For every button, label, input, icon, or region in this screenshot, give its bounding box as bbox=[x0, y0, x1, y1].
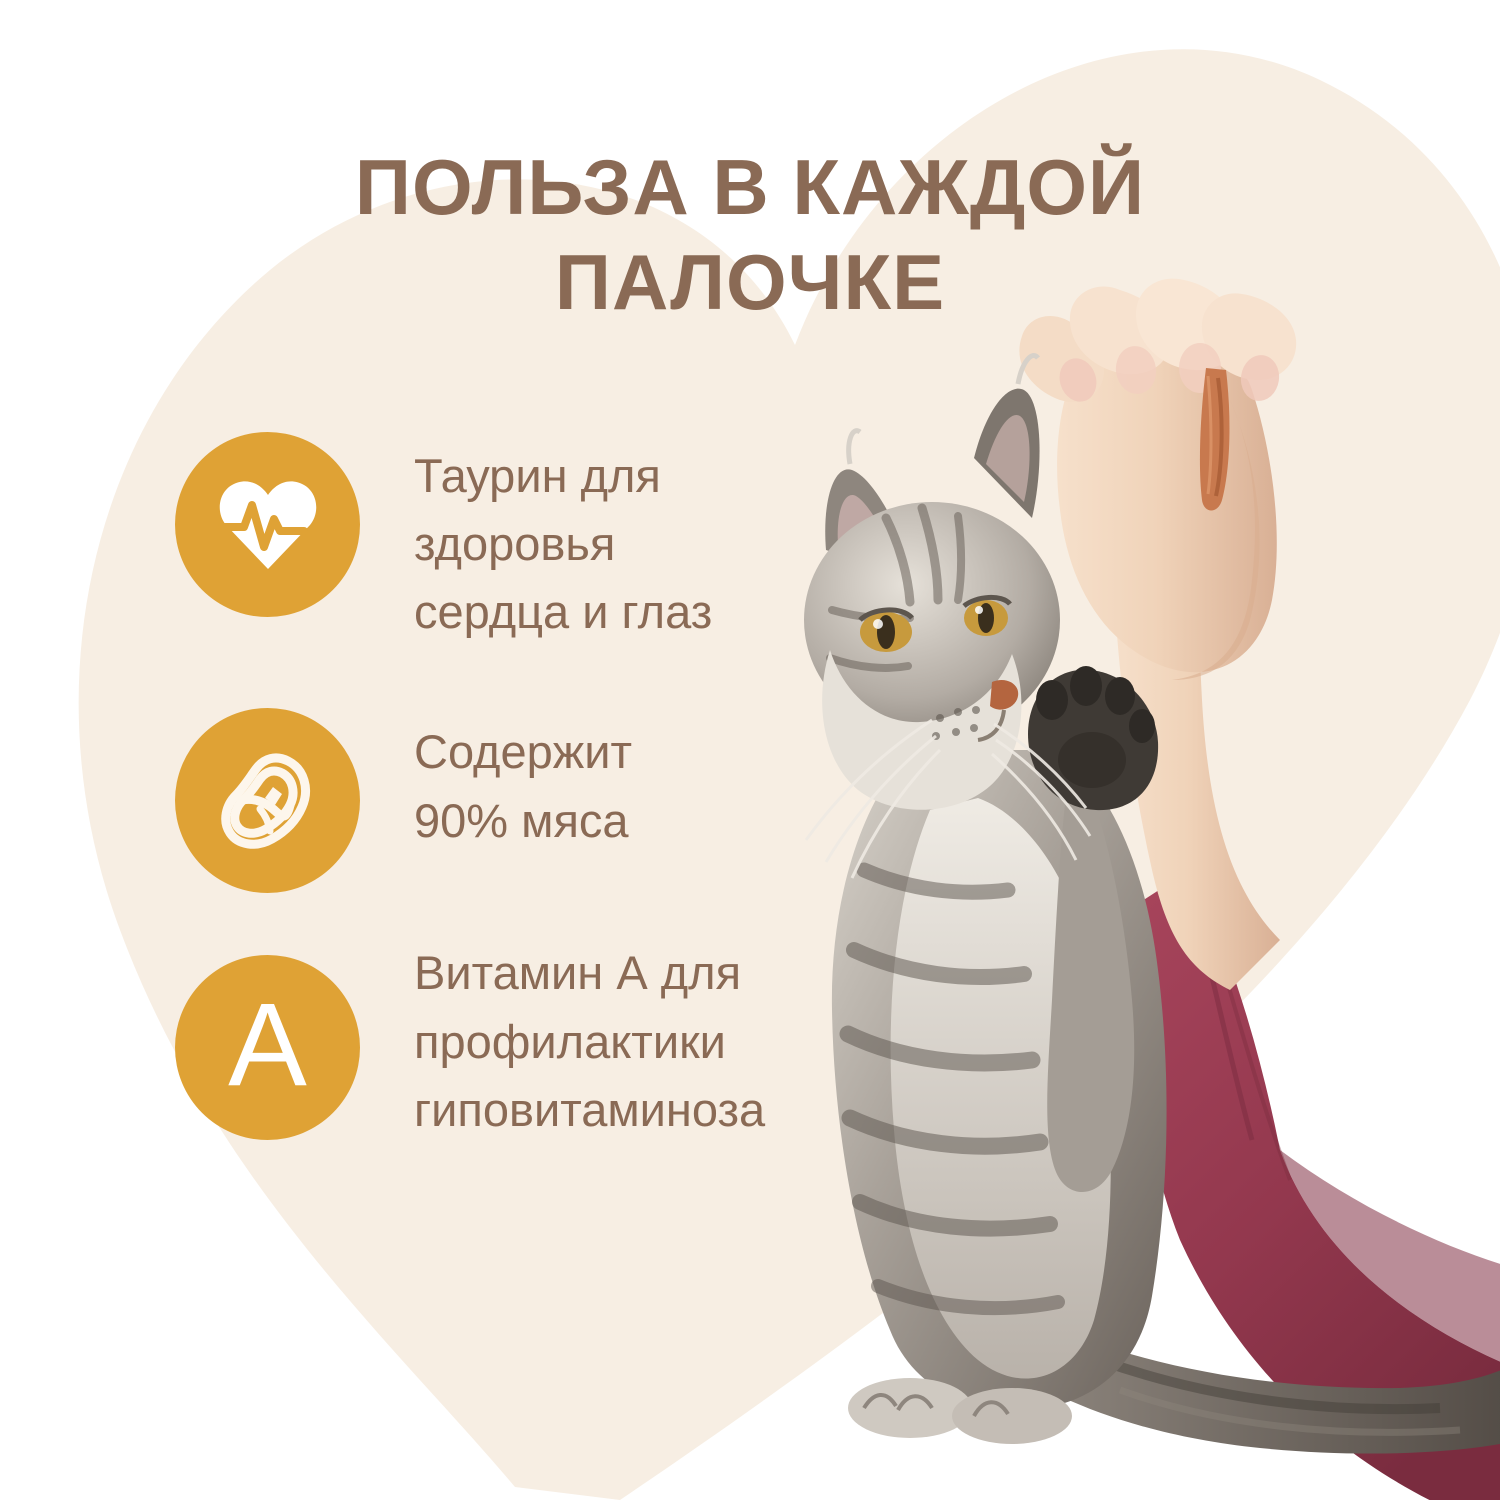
benefits-list: Таурин для здоровья сердца и глаз bbox=[175, 432, 815, 1144]
heart-pulse-icon bbox=[218, 477, 318, 573]
vitamin-a-letter-icon: А bbox=[228, 986, 307, 1104]
benefit-item-vitamin-a: А Витамин А для профилактики гиповитамин… bbox=[175, 955, 815, 1143]
benefit-label: Содержит 90% мяса bbox=[414, 718, 815, 854]
page-title: ПОЛЬЗА В КАЖДОЙ ПАЛОЧКЕ bbox=[180, 140, 1320, 330]
heart-pulse-badge bbox=[175, 432, 360, 617]
vitamin-a-badge: А bbox=[175, 955, 360, 1140]
poster-canvas: ПОЛЬЗА В КАЖДОЙ ПАЛОЧКЕ bbox=[0, 0, 1500, 1500]
meat-steak-icon bbox=[216, 749, 320, 853]
benefit-item-taurine: Таурин для здоровья сердца и глаз bbox=[175, 432, 815, 646]
benefit-label: Таурин для здоровья сердца и глаз bbox=[414, 442, 815, 646]
meat-steak-badge bbox=[175, 708, 360, 893]
benefit-item-meat-content: Содержит 90% мяса bbox=[175, 708, 815, 893]
benefit-label: Витамин А для профилактики гиповитаминоз… bbox=[414, 939, 815, 1143]
